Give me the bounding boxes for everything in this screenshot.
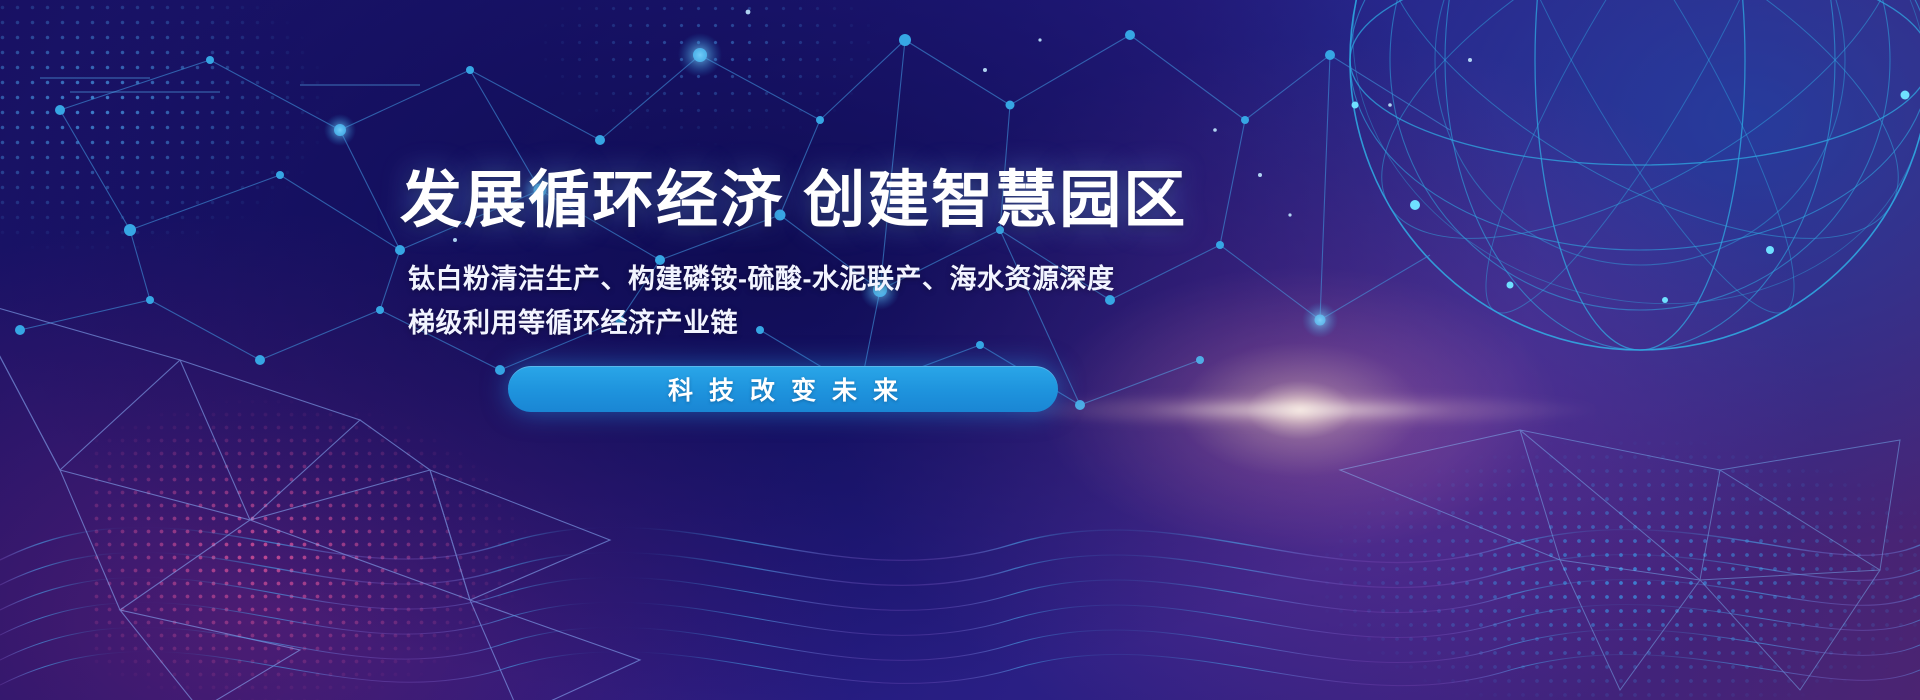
cta-button-label: 科技改变未来 <box>652 371 914 407</box>
hero-banner: 发展循环经济 创建智慧园区 钛白粉清洁生产、构建磷铵-硫酸-水泥联产、海水资源深… <box>0 0 1920 700</box>
subtitle-line-2: 梯级利用等循环经济产业链 <box>408 302 1208 346</box>
banner-title: 发展循环经济 创建智慧园区 <box>400 168 1220 233</box>
banner-subtitle: 钛白粉清洁生产、构建磷铵-硫酸-水泥联产、海水资源深度 梯级利用等循环经济产业链 <box>408 258 1208 345</box>
subtitle-line-1: 钛白粉清洁生产、构建磷铵-硫酸-水泥联产、海水资源深度 <box>408 258 1208 302</box>
banner-content: 发展循环经济 创建智慧园区 钛白粉清洁生产、构建磷铵-硫酸-水泥联产、海水资源深… <box>0 0 1920 700</box>
cta-button[interactable]: 科技改变未来 <box>508 366 1058 412</box>
